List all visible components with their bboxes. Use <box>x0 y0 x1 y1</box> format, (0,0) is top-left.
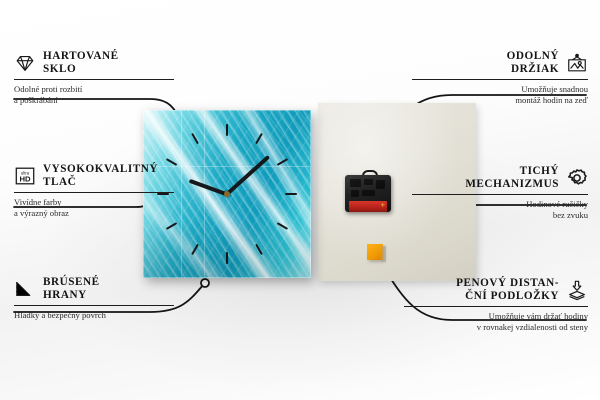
feature-ground-edges: BRÚSENÉ HRANY Hladký a bezpečný povrch <box>14 276 174 321</box>
feature-silent-mechanism: TICHÝ MECHANIZMUS Hodinové ručičky bez z… <box>412 165 588 222</box>
title-line: MECHANIZMUS <box>465 178 559 191</box>
clock-center-cap <box>224 191 230 197</box>
title-line: PENOVÝ DISTAN- <box>456 277 559 290</box>
divider <box>412 194 588 195</box>
subtitle-line: bez zvuku <box>412 210 588 222</box>
divider <box>404 306 588 307</box>
stacked-layers-down-arrow-icon <box>566 279 588 301</box>
feature-title: ODOLNÝ DRŽIAK <box>507 50 559 75</box>
feature-durable-holder: ODOLNÝ DRŽIAK Umožňuje snadnou montáž ho… <box>412 50 588 107</box>
title-line: ODOLNÝ <box>507 50 559 63</box>
divider <box>412 79 588 80</box>
feature-title: PENOVÝ DISTAN- ČNÍ PODLOŽKY <box>456 277 559 302</box>
feature-tempered-glass: HARTOVANÉ SKLO Odolné proti rozbití a po… <box>14 50 174 107</box>
feature-high-quality-print: ultra HD VYSOKOKVALITNÝ TLAČ Vivídne far… <box>14 163 174 220</box>
svg-text:HD: HD <box>19 174 31 183</box>
subtitle-line: Hladký a bezpečný povrch <box>14 310 174 322</box>
subtitle-line: Umožňuje snadnou <box>412 84 588 96</box>
feature-subtitle: Vivídne farby a výrazný obraz <box>14 197 174 220</box>
divider <box>14 192 174 193</box>
mechanism-battery: + <box>349 201 387 212</box>
clock-hour-marker <box>226 124 228 136</box>
feature-subtitle: Hodinové ručičky bez zvuku <box>412 199 588 222</box>
clock-mechanism: + <box>345 170 391 212</box>
subtitle-line: v rovnakej vzdialenosti od steny <box>404 322 588 334</box>
feature-foam-spacers: PENOVÝ DISTAN- ČNÍ PODLOŽKY Umožňuje vám… <box>404 277 588 334</box>
title-line: ČNÍ PODLOŽKY <box>465 290 559 303</box>
clock-hour-marker <box>226 252 228 264</box>
title-line: BRÚSENÉ <box>43 276 100 289</box>
clock-hour-marker <box>191 244 199 255</box>
title-line: VYSOKOKVALITNÝ <box>43 163 158 176</box>
title-line: SKLO <box>43 63 119 76</box>
feature-title: BRÚSENÉ HRANY <box>43 276 100 301</box>
title-line: HARTOVANÉ <box>43 50 119 63</box>
battery-plus-mark: + <box>380 202 385 210</box>
title-line: HRANY <box>43 289 100 302</box>
gear-icon <box>566 167 588 189</box>
infographic-canvas: + HARTOVANÉ SKLO Odolné proti rozbití a … <box>0 0 600 400</box>
feature-subtitle: Umožňuje snadnou montáž hodin na zeď <box>412 84 588 107</box>
mechanism-body: + <box>345 175 391 212</box>
feature-subtitle: Umožňuje vám držať hodiny v rovnakej vzd… <box>404 311 588 334</box>
diamond-icon <box>14 52 36 74</box>
clock-hour-marker <box>255 244 263 255</box>
feature-subtitle: Hladký a bezpečný povrch <box>14 310 174 322</box>
ultra-hd-icon: ultra HD <box>14 165 36 187</box>
clock-hour-marker <box>277 158 288 166</box>
divider <box>14 305 174 306</box>
connector-node-ground-edges <box>201 279 209 287</box>
subtitle-line: Vivídne farby <box>14 197 174 209</box>
framed-picture-icon <box>566 52 588 74</box>
subtitle-line: Umožňuje vám držať hodiny <box>404 311 588 323</box>
title-line: TICHÝ <box>520 165 559 178</box>
title-line: DRŽIAK <box>511 63 559 76</box>
foam-distance-pad <box>367 244 383 260</box>
divider <box>14 79 174 80</box>
feature-title: VYSOKOKVALITNÝ TLAČ <box>43 163 158 188</box>
clock-hour-marker <box>166 222 177 230</box>
subtitle-line: montáž hodin na zeď <box>412 95 588 107</box>
clock-hour-marker <box>285 193 297 195</box>
feature-title: HARTOVANÉ SKLO <box>43 50 119 75</box>
subtitle-line: Odolné proti rozbití <box>14 84 174 96</box>
ground-edges-icon <box>14 278 36 300</box>
clock-hour-marker <box>255 133 263 144</box>
subtitle-line: Hodinové ručičky <box>412 199 588 211</box>
clock-hour-marker <box>191 133 199 144</box>
subtitle-line: a výrazný obraz <box>14 208 174 220</box>
title-line: TLAČ <box>43 176 158 189</box>
subtitle-line: a poškrábání <box>14 95 174 107</box>
feature-subtitle: Odolné proti rozbití a poškrábání <box>14 84 174 107</box>
feature-title: TICHÝ MECHANIZMUS <box>465 165 559 190</box>
clock-hour-marker <box>277 222 288 230</box>
